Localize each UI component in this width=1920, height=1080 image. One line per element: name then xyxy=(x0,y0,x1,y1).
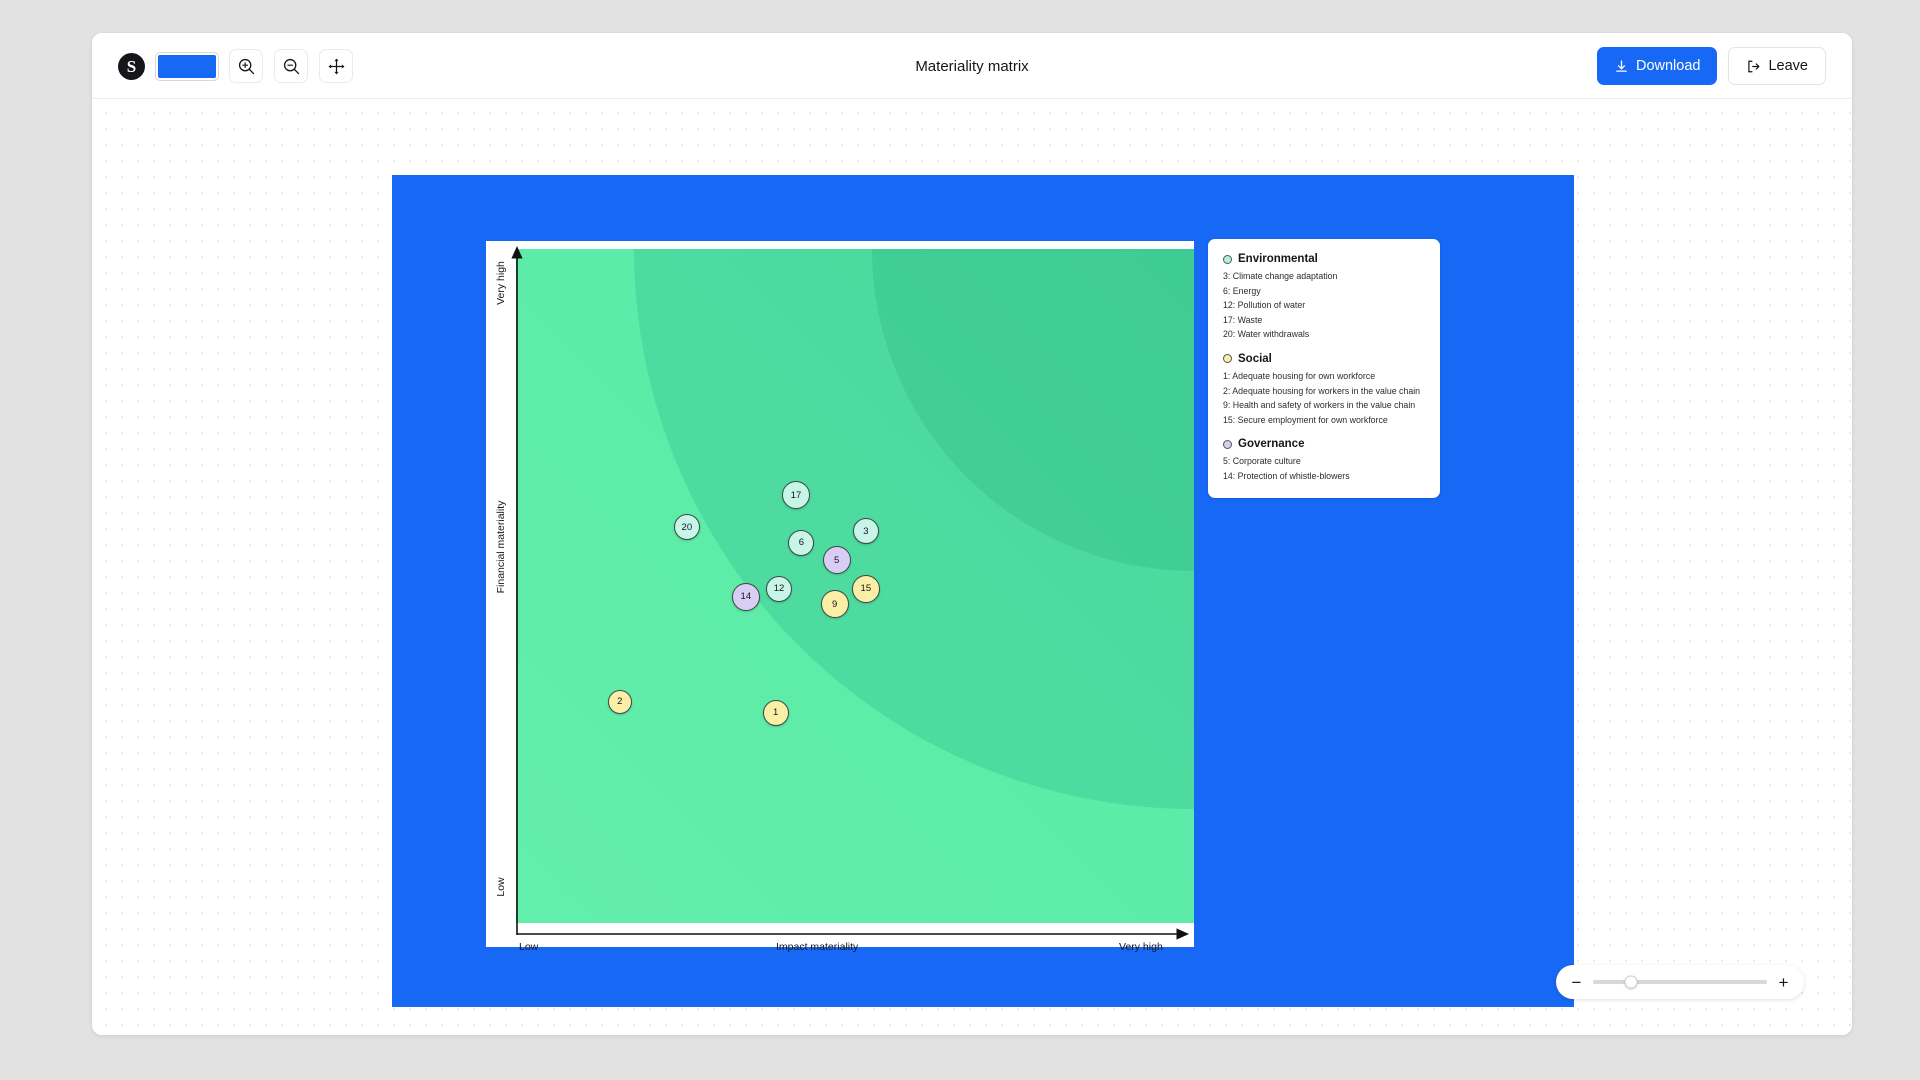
legend-card[interactable]: Environmental3: Climate change adaptatio… xyxy=(1208,239,1440,498)
legend-group-header: Social xyxy=(1223,353,1426,365)
slide-canvas[interactable]: Very high Financial materiality Low xyxy=(92,99,1852,1035)
data-point-1[interactable]: 1 xyxy=(763,700,789,726)
leave-button-label: Leave xyxy=(1768,58,1808,74)
legend-item[interactable]: 20: Water withdrawals xyxy=(1223,327,1426,342)
data-point-label: 1 xyxy=(773,707,778,718)
color-swatch-button[interactable] xyxy=(156,53,218,80)
data-point-12[interactable]: 12 xyxy=(766,576,792,602)
legend-item[interactable]: 9: Health and safety of workers in the v… xyxy=(1223,398,1426,413)
data-point-label: 2 xyxy=(617,696,622,707)
legend-item[interactable]: 6: Energy xyxy=(1223,284,1426,299)
legend-item[interactable]: 14: Protection of whistle-blowers xyxy=(1223,469,1426,484)
legend-item[interactable]: 5: Corporate culture xyxy=(1223,454,1426,469)
zoom-slider-control[interactable]: − + xyxy=(1556,965,1804,999)
y-axis-labels: Very high Financial materiality Low xyxy=(486,241,516,923)
zoom-in-icon xyxy=(237,57,256,76)
legend-group-governance: Governance5: Corporate culture14: Protec… xyxy=(1223,438,1426,483)
data-point-14[interactable]: 14 xyxy=(732,583,760,611)
data-point-9[interactable]: 9 xyxy=(821,590,849,618)
data-point-17[interactable]: 17 xyxy=(782,481,810,509)
zoom-out-button[interactable] xyxy=(274,49,308,83)
data-point-label: 20 xyxy=(682,522,693,533)
data-point-label: 9 xyxy=(832,599,837,610)
download-button-label: Download xyxy=(1636,58,1701,74)
download-button[interactable]: Download xyxy=(1597,47,1718,85)
data-point-label: 6 xyxy=(799,537,804,548)
data-point-2[interactable]: 2 xyxy=(608,690,632,714)
s-logo-icon[interactable]: S xyxy=(118,53,145,80)
legend-item[interactable]: 17: Waste xyxy=(1223,313,1426,328)
pan-move-button[interactable] xyxy=(319,49,353,83)
zoom-in-button[interactable] xyxy=(229,49,263,83)
legend-item[interactable]: 3: Climate change adaptation xyxy=(1223,269,1426,284)
zoom-slider-thumb[interactable] xyxy=(1625,976,1638,989)
data-point-label: 17 xyxy=(791,490,802,501)
x-axis-tick-high: Very high xyxy=(1119,941,1163,953)
data-point-label: 5 xyxy=(834,555,839,566)
data-point-5[interactable]: 5 xyxy=(823,546,851,574)
page-title: Materiality matrix xyxy=(92,33,1852,99)
zoom-slider-track[interactable] xyxy=(1593,980,1767,984)
app-window: S xyxy=(92,33,1852,1035)
y-axis-tick-low: Low xyxy=(495,877,507,896)
data-point-15[interactable]: 15 xyxy=(852,575,880,603)
data-point-label: 3 xyxy=(863,526,868,537)
legend-item[interactable]: 2: Adequate housing for workers in the v… xyxy=(1223,384,1426,399)
data-point-label: 14 xyxy=(741,591,752,602)
toolbar-right-group: Download Leave xyxy=(1597,33,1826,99)
toolbar-left-group: S xyxy=(118,33,353,99)
plot-area[interactable]: 1720365121415921 xyxy=(516,249,1194,923)
slide-frame[interactable]: Very high Financial materiality Low xyxy=(392,175,1574,1007)
legend-group-title: Governance xyxy=(1238,438,1304,450)
y-axis-tick-high: Very high xyxy=(495,261,507,305)
download-icon xyxy=(1614,59,1629,74)
zoom-decrease-button[interactable]: − xyxy=(1570,974,1583,991)
legend-item[interactable]: 12: Pollution of water xyxy=(1223,298,1426,313)
chart-card: Very high Financial materiality Low xyxy=(486,241,1194,947)
x-axis-title: Impact materiality xyxy=(776,941,858,953)
legend-group-title: Environmental xyxy=(1238,253,1318,265)
y-axis-title: Financial materiality xyxy=(495,501,507,594)
legend-group-header: Environmental xyxy=(1223,253,1426,265)
move-icon xyxy=(327,57,346,76)
x-axis-tick-low: Low xyxy=(519,941,538,953)
legend-swatch-icon xyxy=(1223,440,1232,449)
zoom-increase-button[interactable]: + xyxy=(1777,974,1790,991)
leave-icon xyxy=(1746,59,1761,74)
legend-group-title: Social xyxy=(1238,353,1272,365)
legend-group-environmental: Environmental3: Climate change adaptatio… xyxy=(1223,253,1426,342)
data-point-label: 15 xyxy=(861,583,872,594)
legend-group-header: Governance xyxy=(1223,438,1426,450)
legend-item[interactable]: 15: Secure employment for own workforce xyxy=(1223,413,1426,428)
legend-item[interactable]: 1: Adequate housing for own workforce xyxy=(1223,369,1426,384)
zoom-out-icon xyxy=(282,57,301,76)
legend-swatch-icon xyxy=(1223,354,1232,363)
top-toolbar: S xyxy=(92,33,1852,99)
legend-group-social: Social1: Adequate housing for own workfo… xyxy=(1223,353,1426,427)
leave-button[interactable]: Leave xyxy=(1728,47,1826,85)
data-point-label: 12 xyxy=(774,583,785,594)
legend-swatch-icon xyxy=(1223,255,1232,264)
